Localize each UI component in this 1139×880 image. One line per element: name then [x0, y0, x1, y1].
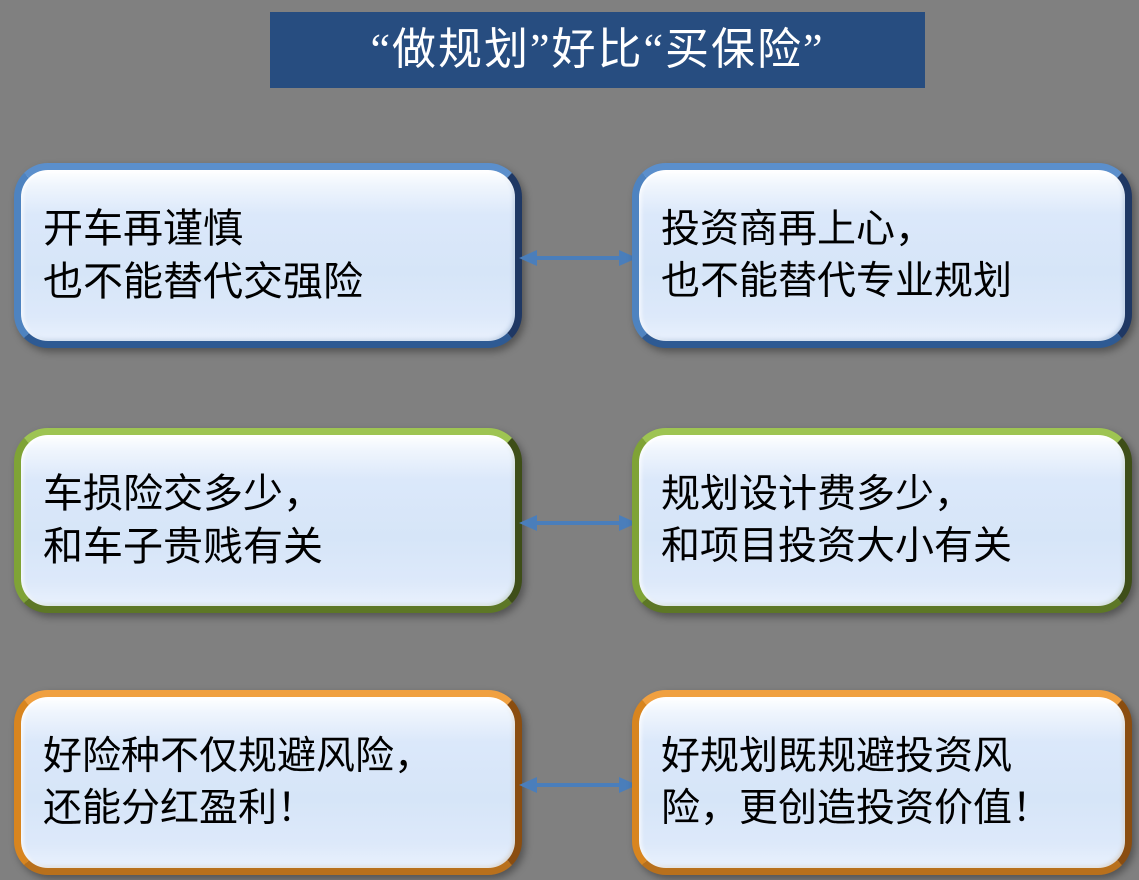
callout-box-row1-right[interactable]: 投资商再上心， 也不能替代专业规划 [632, 163, 1132, 348]
slide-title-banner: “做规划”好比“买保险” [270, 12, 925, 88]
comparison-row-2: 车损险交多少， 和车子贵贱有关 规划设计费多少， 和项目投资大小有关 [0, 428, 1139, 618]
callout-box-row2-left[interactable]: 车损险交多少， 和车子贵贱有关 [14, 428, 522, 613]
connector-arrow-row3 [519, 772, 637, 798]
double-headed-arrow-icon [519, 510, 637, 536]
callout-line-2: 和项目投资大小有关 [661, 521, 1111, 572]
callout-line-2: 还能分红盈利！ [43, 783, 501, 834]
callout-line-1: 好险种不仅规避风险， [43, 731, 501, 782]
callout-line-2: 也不能替代专业规划 [661, 256, 1111, 307]
double-headed-arrow-icon [519, 245, 637, 271]
page-title: “做规划”好比“买保险” [370, 28, 824, 72]
callout-line-2: 和车子贵贱有关 [43, 521, 501, 574]
comparison-row-1: 开车再谨慎 也不能替代交强险 投资商再上心， 也不能替代专业规划 [0, 163, 1139, 353]
callout-box-row2-right[interactable]: 规划设计费多少， 和项目投资大小有关 [632, 428, 1132, 613]
connector-arrow-row2 [519, 510, 637, 536]
callout-line-1: 车损险交多少， [43, 468, 501, 521]
callout-line-2: 险，更创造投资价值！ [661, 783, 1111, 834]
double-headed-arrow-icon [519, 772, 637, 798]
callout-line-1: 开车再谨慎 [43, 203, 501, 256]
callout-line-1: 好规划既规避投资风 [661, 731, 1111, 782]
callout-box-row1-left[interactable]: 开车再谨慎 也不能替代交强险 [14, 163, 522, 348]
connector-arrow-row1 [519, 245, 637, 271]
callout-box-row3-right[interactable]: 好规划既规避投资风 险，更创造投资价值！ [632, 690, 1132, 875]
callout-line-1: 投资商再上心， [661, 204, 1111, 255]
callout-line-2: 也不能替代交强险 [43, 256, 501, 309]
callout-line-1: 规划设计费多少， [661, 469, 1111, 520]
comparison-row-3: 好险种不仅规避风险， 还能分红盈利！ 好规划既规避投资风 险，更创造投资价值！ [0, 690, 1139, 880]
callout-box-row3-left[interactable]: 好险种不仅规避风险， 还能分红盈利！ [14, 690, 522, 875]
